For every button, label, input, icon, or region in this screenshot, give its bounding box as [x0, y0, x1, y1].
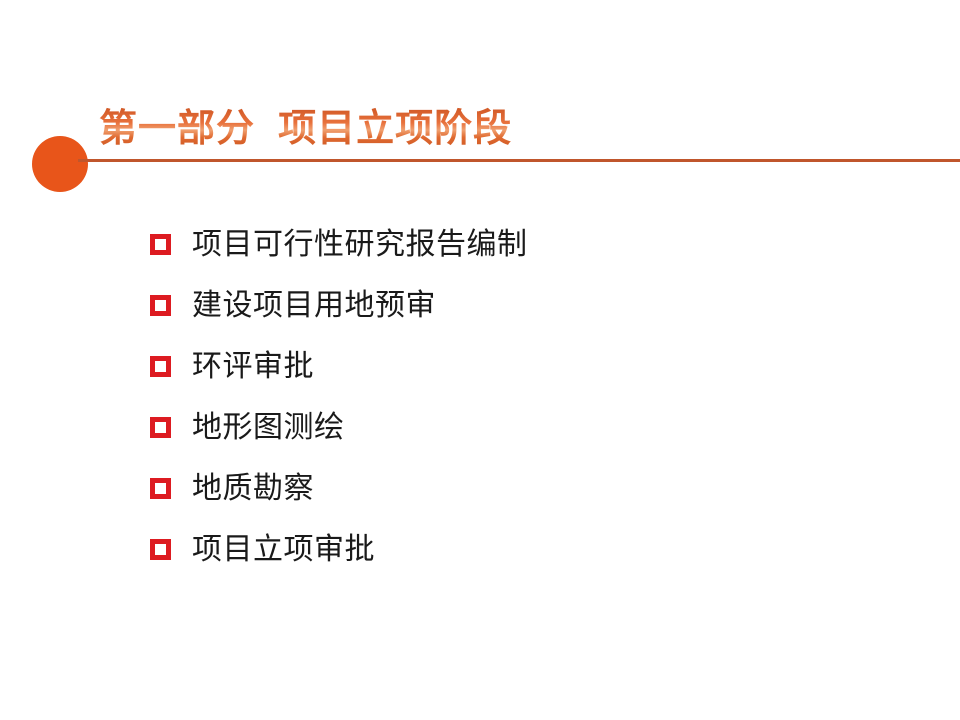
slide-header: 第一部分 项目立项阶段	[0, 0, 960, 200]
slide-canvas: 第一部分 项目立项阶段 项目可行性研究报告编制 建设项目用地预审 环评审批 地形…	[0, 0, 960, 720]
list-item: 项目立项审批	[150, 519, 910, 580]
hollow-square-bullet-icon	[150, 295, 171, 316]
hollow-square-bullet-icon	[150, 478, 171, 499]
page-title: 第一部分 项目立项阶段	[99, 103, 512, 155]
list-item-label: 地质勘察	[192, 472, 314, 506]
hollow-square-bullet-icon	[150, 417, 171, 438]
list-item: 建设项目用地预审	[150, 275, 910, 336]
content-list: 项目可行性研究报告编制 建设项目用地预审 环评审批 地形图测绘 地质勘察 项目立…	[150, 214, 910, 580]
list-item-label: 地形图测绘	[192, 411, 345, 445]
hollow-square-bullet-icon	[150, 356, 171, 377]
list-item-label: 环评审批	[192, 350, 314, 384]
hollow-square-bullet-icon	[150, 539, 171, 560]
list-item: 环评审批	[150, 336, 910, 397]
list-item: 地质勘察	[150, 458, 910, 519]
filled-circle-icon	[32, 136, 88, 192]
list-item-label: 建设项目用地预审	[192, 289, 436, 323]
hollow-square-bullet-icon	[150, 234, 171, 255]
list-item-label: 项目立项审批	[192, 533, 375, 567]
list-item: 项目可行性研究报告编制	[150, 214, 910, 275]
list-item: 地形图测绘	[150, 397, 910, 458]
list-item-label: 项目可行性研究报告编制	[192, 228, 528, 262]
horizontal-rule-icon	[78, 159, 960, 162]
